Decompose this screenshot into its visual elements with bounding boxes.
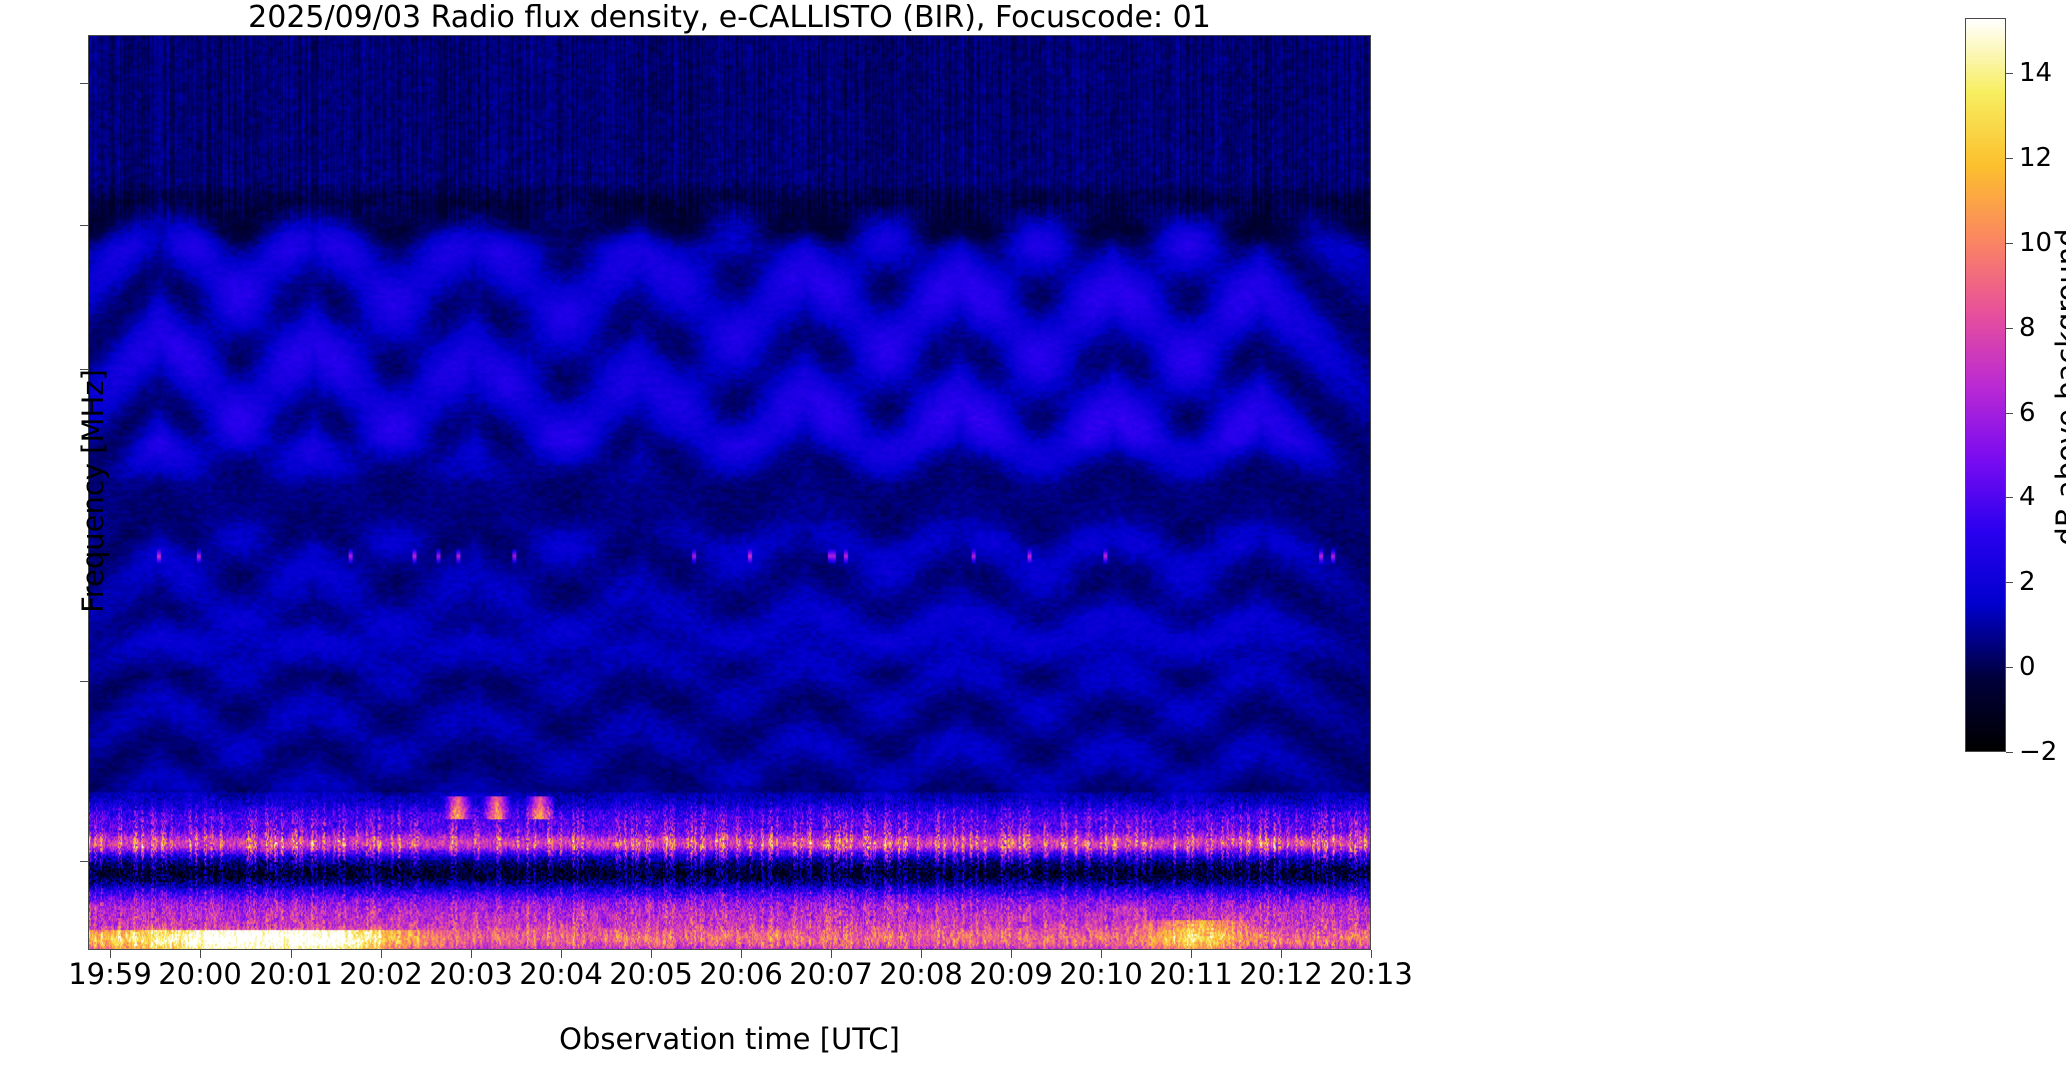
y-tick-mark bbox=[80, 861, 88, 862]
x-axis-title: Observation time [UTC] bbox=[88, 1022, 1371, 1056]
colorbar-tick-label: 6 bbox=[2019, 400, 2036, 426]
y-tick-mark bbox=[80, 681, 88, 682]
colorbar-tick-mark bbox=[2006, 667, 2013, 668]
page-title: 2025/09/03 Radio flux density, e-CALLIST… bbox=[88, 2, 1371, 34]
colorbar-tick-label: 10 bbox=[2019, 230, 2052, 256]
colorbar-title: dB above background bbox=[2050, 20, 2066, 754]
colorbar-tick-mark bbox=[2006, 752, 2013, 753]
colorbar-tick-label: 8 bbox=[2019, 315, 2036, 341]
colorbar-tick-mark bbox=[2006, 328, 2013, 329]
colorbar-tick-label: 0 bbox=[2019, 654, 2036, 680]
y-axis-title: Frequency [MHz] bbox=[76, 31, 110, 951]
x-tick-label: 20:13 bbox=[1291, 960, 1451, 989]
y-tick-mark bbox=[80, 369, 88, 370]
colorbar-tick-label: 4 bbox=[2019, 484, 2036, 510]
y-tick-mark bbox=[80, 225, 88, 226]
colorbar-tick-mark bbox=[2006, 497, 2013, 498]
colorbar-tick-label: 12 bbox=[2019, 145, 2052, 171]
colorbar-tick-label: 14 bbox=[2019, 60, 2052, 86]
spectrogram-image bbox=[89, 36, 1370, 949]
y-tick-mark bbox=[80, 83, 88, 84]
colorbar-tick-mark bbox=[2006, 158, 2013, 159]
spectrogram-plot[interactable] bbox=[88, 35, 1371, 950]
colorbar-tick-mark bbox=[2006, 582, 2013, 583]
colorbar-tick-mark bbox=[2006, 413, 2013, 414]
colorbar-tick-label: 2 bbox=[2019, 569, 2036, 595]
colorbar[interactable] bbox=[1965, 18, 2006, 752]
colorbar-tick-mark bbox=[2006, 243, 2013, 244]
colorbar-gradient bbox=[1966, 19, 2005, 751]
colorbar-tick-mark bbox=[2006, 73, 2013, 74]
figure-canvas: 2025/09/03 Radio flux density, e-CALLIST… bbox=[0, 0, 2066, 1067]
